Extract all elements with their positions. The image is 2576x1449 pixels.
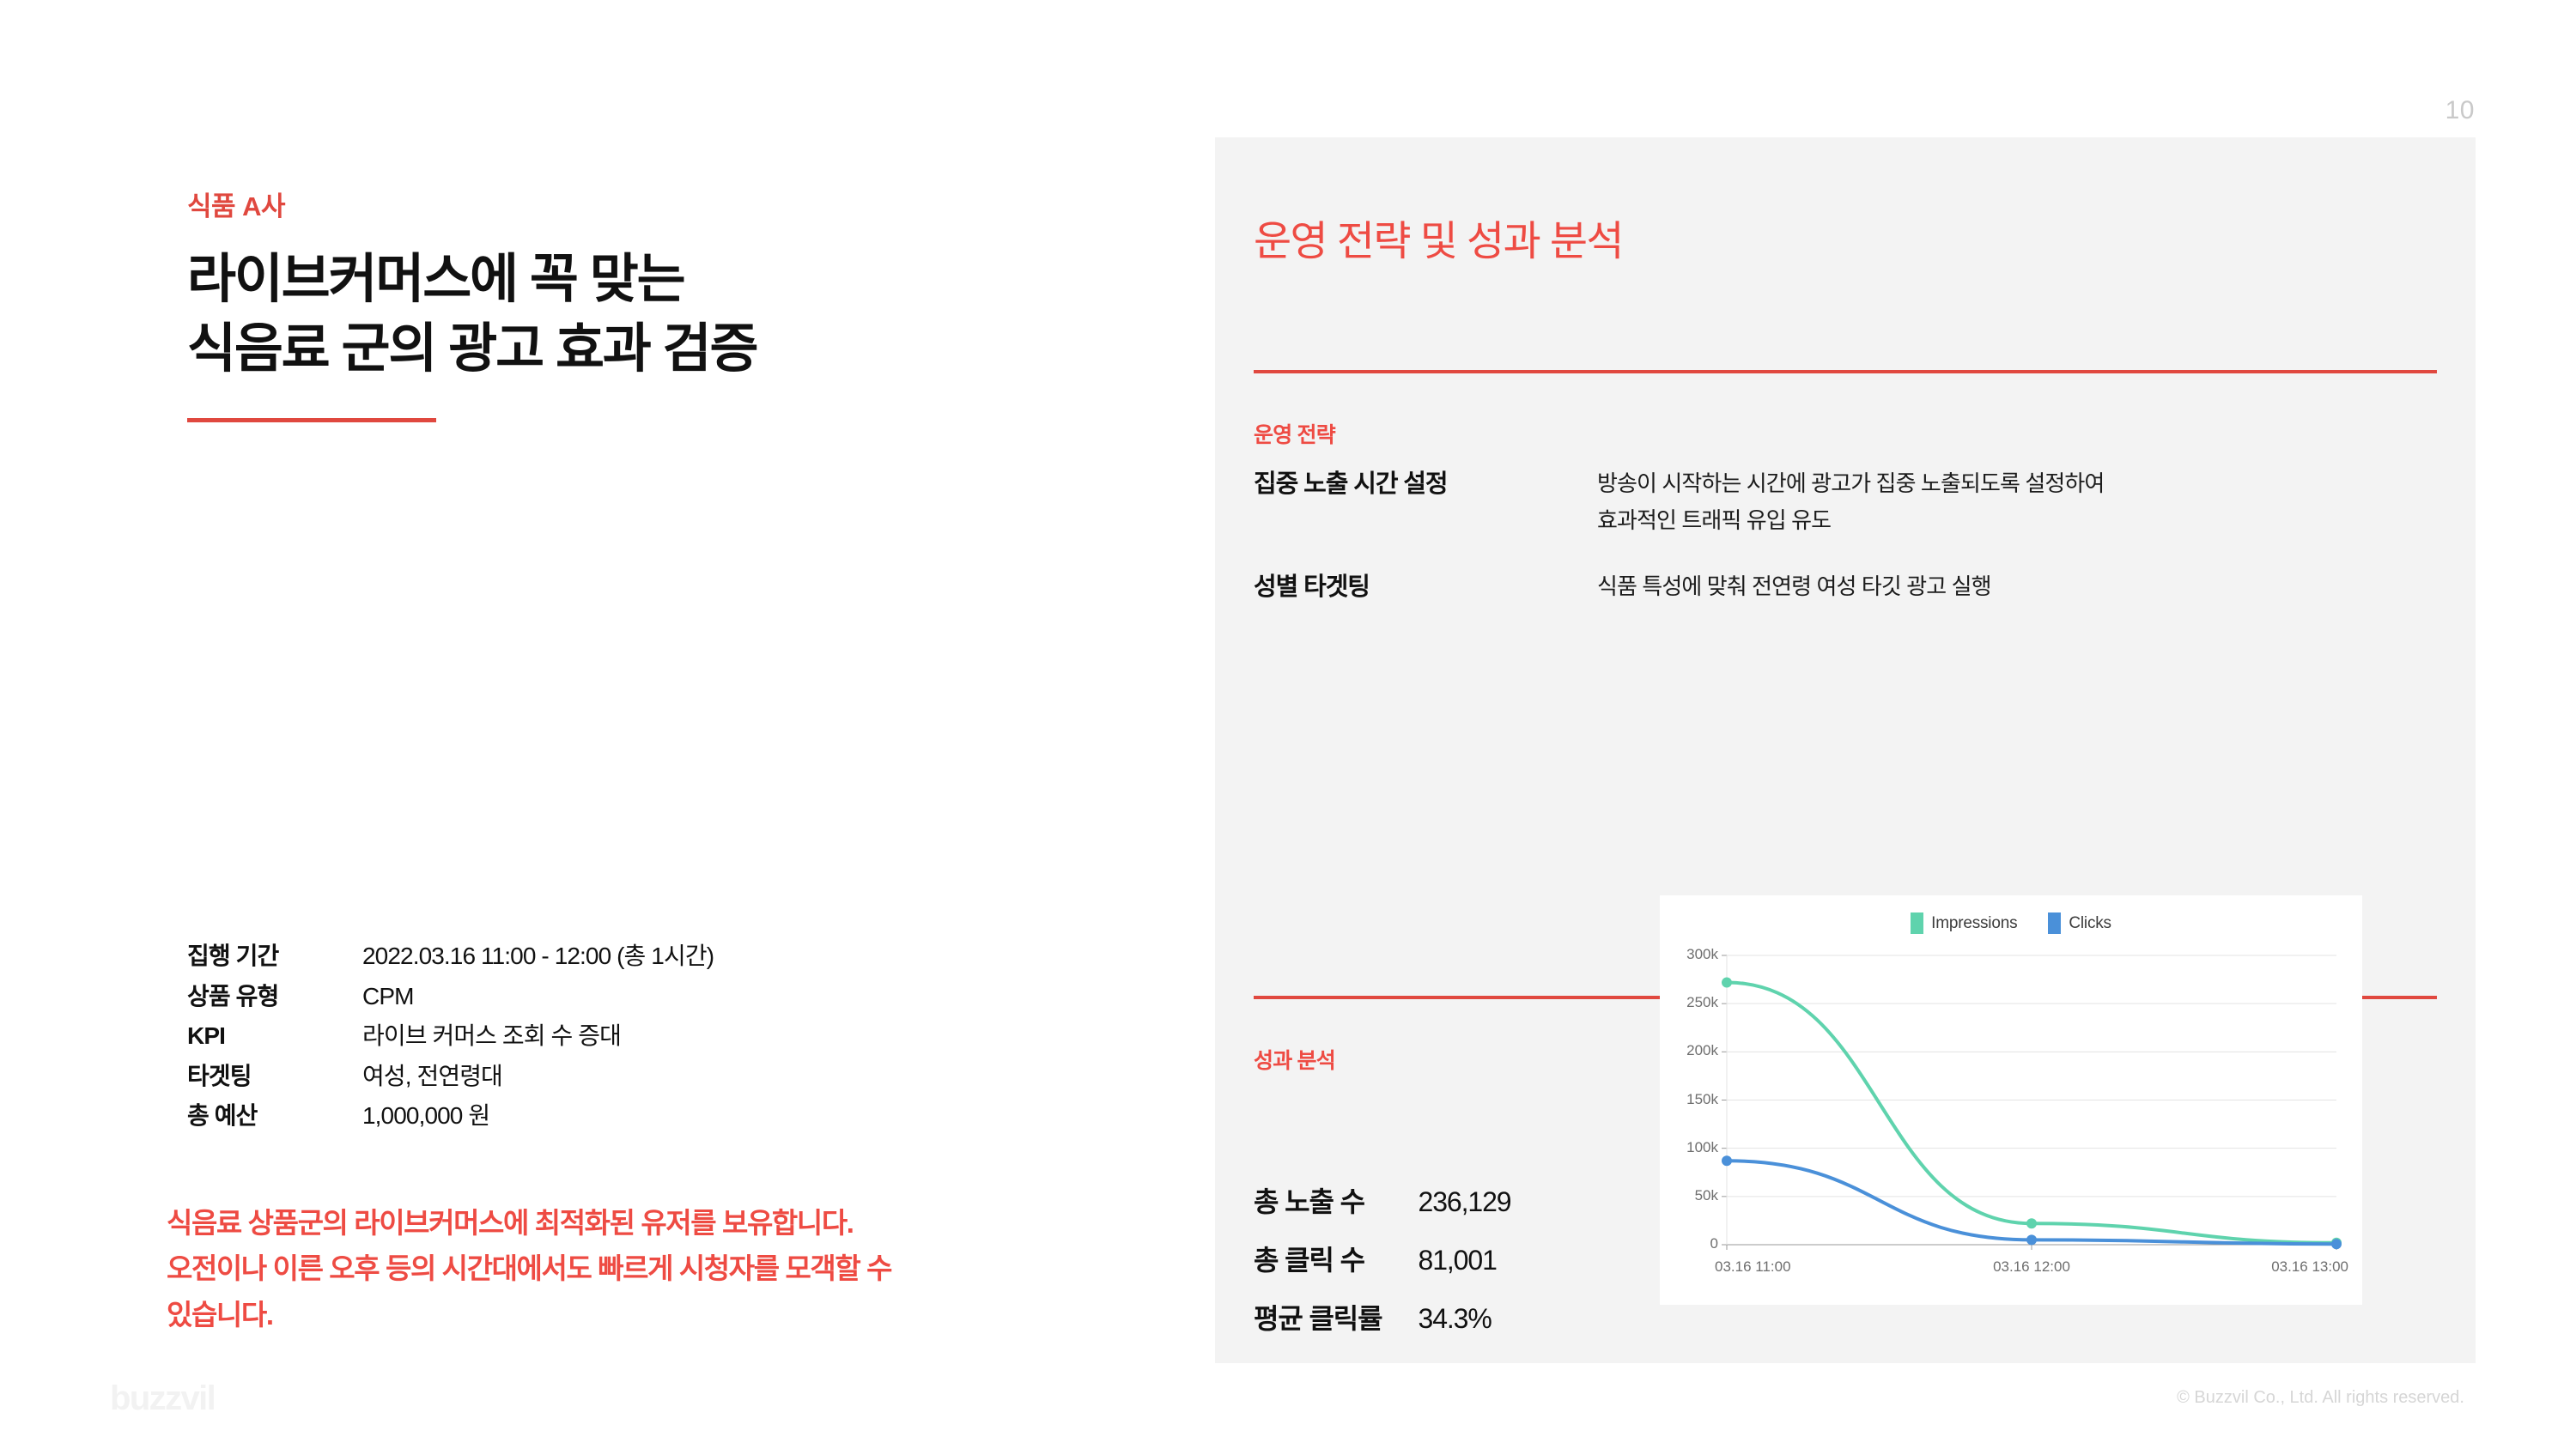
- y-axis-tick-label: 200k: [1660, 1042, 1718, 1059]
- highlight-callout: 식음료 상품군의 라이브커머스에 최적화된 유저를 보유합니다. 오전이나 이른…: [167, 1200, 1163, 1337]
- section-label-strategy: 운영 전략: [1254, 418, 1335, 449]
- y-axis-tick-label: 0: [1660, 1235, 1718, 1252]
- x-axis-tick-label: 03.16 13:00: [2194, 1258, 2348, 1276]
- title-underline-rule: [187, 418, 436, 422]
- table-row: 평균 클릭률 34.3%: [1254, 1297, 1510, 1355]
- campaign-spec-table: 집행 기간 2022.03.16 11:00 - 12:00 (총 1시간) 상…: [187, 940, 714, 1140]
- spec-value: 라이브 커머스 조회 수 증대: [362, 1020, 714, 1060]
- callout-line-3: 있습니다.: [167, 1292, 1163, 1337]
- page-title: 라이브커머스에 꼭 맞는 식음료 군의 광고 효과 검증: [187, 246, 1157, 384]
- table-row: KPI 라이브 커머스 조회 수 증대: [187, 1020, 714, 1060]
- left-column: 식품 A사 라이브커머스에 꼭 맞는 식음료 군의 광고 효과 검증: [187, 185, 1157, 422]
- performance-chart-card: Impressions Clicks 050k100k150k200k250k3…: [1660, 895, 2362, 1305]
- metric-value: 81,001: [1419, 1239, 1511, 1297]
- strategy-row-head: 집중 노출 시간 설정: [1254, 464, 1511, 500]
- page-title-line-1: 라이브커머스에 꼭 맞는: [187, 246, 1157, 315]
- spec-value: 여성, 전연령대: [362, 1060, 714, 1100]
- buzzvil-logo: buzzvil: [110, 1379, 215, 1418]
- x-axis-tick-label: 03.16 12:00: [1954, 1258, 2109, 1276]
- spec-value: 2022.03.16 11:00 - 12:00 (총 1시간): [362, 940, 714, 980]
- metric-label: 총 클릭 수: [1254, 1239, 1419, 1297]
- table-row: 총 노출 수 236,129: [1254, 1180, 1510, 1239]
- y-axis-tick-label: 100k: [1660, 1139, 1718, 1156]
- copyright-text: © Buzzvil Co., Ltd. All rights reserved.: [2177, 1388, 2464, 1408]
- table-row: 총 예산 1,000,000 원: [187, 1100, 714, 1140]
- page-title-line-2: 식음료 군의 광고 효과 검증: [187, 315, 1157, 385]
- strategy-row-body-line-1: 방송이 시작하는 시간에 광고가 집중 노출되도록 설정하여: [1597, 465, 2104, 502]
- table-row: 총 클릭 수 81,001: [1254, 1239, 1510, 1297]
- callout-line-2: 오전이나 이른 오후 등의 시간대에서도 빠르게 시청자를 모객할 수: [167, 1246, 1163, 1291]
- eyebrow-label: 식품 A사: [187, 185, 1157, 223]
- metric-value: 236,129: [1419, 1180, 1511, 1239]
- metric-label: 평균 클릭률: [1254, 1297, 1419, 1355]
- metrics-table: 총 노출 수 236,129 총 클릭 수 81,001 평균 클릭률 34.3…: [1254, 1180, 1510, 1355]
- chart-plot-area: 050k100k150k200k250k300k03.16 11:0003.16…: [1660, 895, 2362, 1305]
- strategy-row-body: 방송이 시작하는 시간에 광고가 집중 노출되도록 설정하여 효과적인 트래픽 …: [1597, 465, 2104, 539]
- strategy-row-body: 식품 특성에 맞춰 전연령 여성 타깃 광고 실행: [1597, 568, 1991, 605]
- strategy-row-body-line-2: 효과적인 트래픽 유입 유도: [1597, 502, 2104, 539]
- spec-label: 집행 기간: [187, 940, 362, 980]
- spec-value: 1,000,000 원: [362, 1100, 714, 1140]
- y-axis-tick-label: 300k: [1660, 946, 1718, 963]
- spec-value: CPM: [362, 980, 714, 1021]
- y-axis-tick-label: 50k: [1660, 1187, 1718, 1204]
- slide-root: 10 식품 A사 라이브커머스에 꼭 맞는 식음료 군의 광고 효과 검증 집행…: [0, 0, 2576, 1449]
- table-row: 타겟팅 여성, 전연령대: [187, 1060, 714, 1100]
- metric-value: 34.3%: [1419, 1297, 1511, 1355]
- panel-title: 운영 전략 및 성과 분석: [1254, 207, 1623, 267]
- page-number: 10: [2445, 96, 2475, 125]
- table-row: 집행 기간 2022.03.16 11:00 - 12:00 (총 1시간): [187, 940, 714, 980]
- strategy-row-head: 성별 타겟팅: [1254, 567, 1511, 603]
- strategy-row-body-line-1: 식품 특성에 맞춰 전연령 여성 타깃 광고 실행: [1597, 568, 1991, 605]
- spec-label: 상품 유형: [187, 980, 362, 1021]
- spec-label: 타겟팅: [187, 1060, 362, 1100]
- section-label-performance: 성과 분석: [1254, 1044, 1335, 1075]
- spec-label: 총 예산: [187, 1100, 362, 1140]
- y-axis-tick-label: 150k: [1660, 1091, 1718, 1108]
- divider-rule-top: [1254, 370, 2437, 373]
- analysis-panel: 운영 전략 및 성과 분석 운영 전략 집중 노출 시간 설정 방송이 시작하는…: [1215, 137, 2476, 1363]
- callout-line-1: 식음료 상품군의 라이브커머스에 최적화된 유저를 보유합니다.: [167, 1200, 1163, 1246]
- spec-label: KPI: [187, 1020, 362, 1060]
- x-axis-tick-label: 03.16 11:00: [1715, 1258, 1869, 1276]
- y-axis-tick-label: 250k: [1660, 994, 1718, 1011]
- metric-label: 총 노출 수: [1254, 1180, 1419, 1239]
- table-row: 상품 유형 CPM: [187, 980, 714, 1021]
